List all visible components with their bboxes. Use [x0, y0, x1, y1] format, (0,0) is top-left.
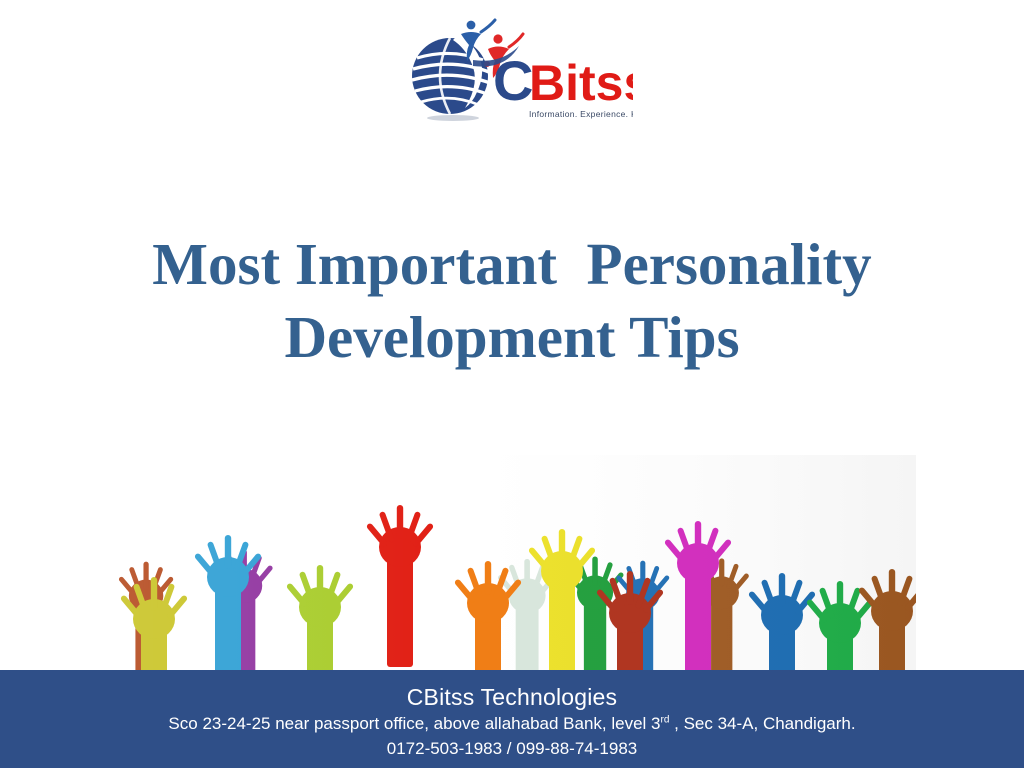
logo-svg: C Bitss Information. Experience. Knowled…	[403, 14, 633, 132]
footer-address: Sco 23-24-25 near passport office, above…	[0, 711, 1024, 736]
footer-contact-bar: CBitss Technologies Sco 23-24-25 near pa…	[0, 670, 1024, 768]
slide-canvas: C Bitss Information. Experience. Knowled…	[0, 0, 1024, 768]
footer-phone-numbers: 0172-503-1983 / 099-88-74-1983	[0, 736, 1024, 761]
logo-shadow	[427, 115, 479, 121]
page-title-line-1: Most Important Personality	[90, 228, 934, 301]
page-title-line-2: Development Tips	[90, 301, 934, 374]
globe-icon	[412, 34, 490, 114]
page-title: Most Important Personality Development T…	[90, 228, 934, 374]
footer-company-name: CBitss Technologies	[0, 684, 1024, 711]
logo-tagline: Information. Experience. Knowledge.	[529, 109, 633, 119]
footer-address-after: , Sec 34-A, Chandigarh.	[669, 714, 855, 733]
cbitss-logo: C Bitss Information. Experience. Knowled…	[403, 14, 633, 132]
logo-brand-c: C	[493, 49, 533, 112]
hands-illustration	[110, 455, 916, 670]
footer-address-before: Sco 23-24-25 near passport office, above…	[168, 714, 660, 733]
logo-brand-rest: Bitss	[529, 55, 633, 111]
raised-colorful-hands-photo	[110, 455, 916, 670]
